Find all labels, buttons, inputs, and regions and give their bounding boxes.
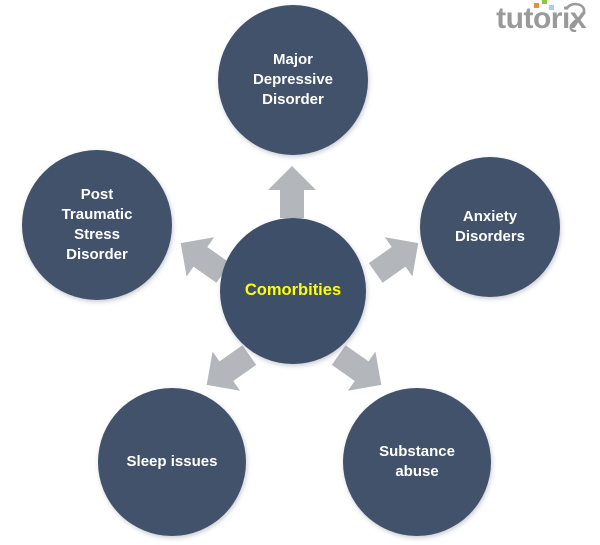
tutorix-logo: tutorix [496,4,586,34]
node-label: Substance abuse [371,442,463,482]
node-label: Major Depressive Disorder [245,50,341,109]
logo-dot-blue-icon [549,5,554,10]
logo-dot-orange-icon [534,3,539,8]
node-label: Sleep issues [119,452,226,472]
node-label: Anxiety Disorders [447,207,533,247]
logo-wordmark: tutorix [496,4,586,34]
logo-dot-green-icon [542,0,547,4]
node-sleep-issues: Sleep issues [98,388,246,536]
node-substance-abuse: Substance abuse [343,388,491,536]
arrow-up-icon [262,162,322,222]
node-comorbities-center: Comorbities [220,218,366,364]
diagram-canvas: tutorix Major Depressive Disorder Anxiet… [0,0,600,545]
node-label: Post Traumatic Stress Disorder [54,185,141,264]
logo-swoosh-icon [563,2,589,32]
node-major-depressive-disorder: Major Depressive Disorder [218,5,368,155]
node-post-traumatic-stress-disorder: Post Traumatic Stress Disorder [22,150,172,300]
center-label: Comorbities [237,280,349,302]
node-anxiety-disorders: Anxiety Disorders [420,157,560,297]
